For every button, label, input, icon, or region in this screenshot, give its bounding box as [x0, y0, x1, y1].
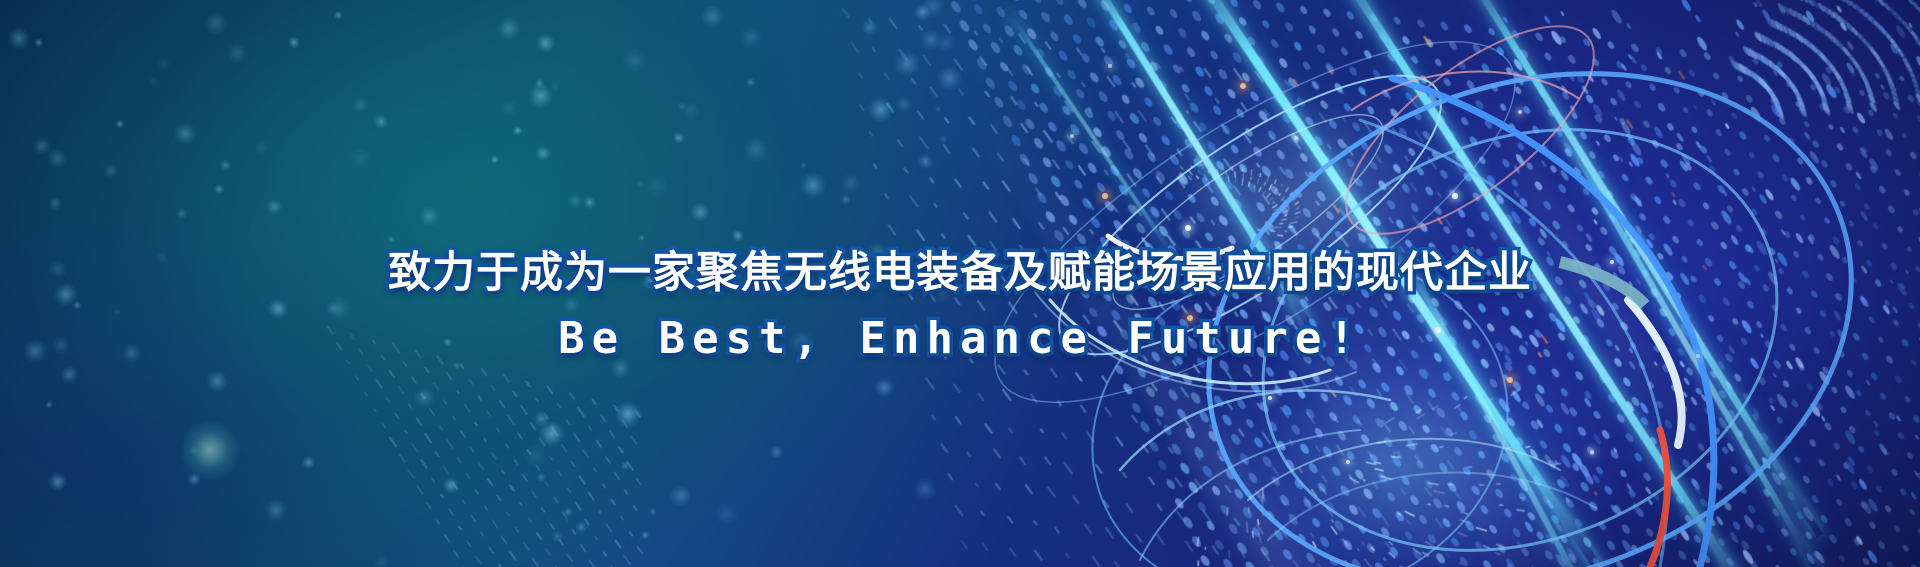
- headline-english: Be Best, Enhance Future!: [0, 313, 1920, 366]
- spark-11-icon: [1294, 136, 1298, 140]
- spark-10-icon: [1108, 64, 1111, 67]
- spark-7-icon: [1518, 110, 1522, 114]
- headline-chinese: 致力于成为一家聚焦无线电装备及赋能场景应用的现代企业: [0, 248, 1920, 299]
- warm-spark-2-icon: [1240, 83, 1246, 89]
- teal-glow-spot: [180, 420, 240, 480]
- hero-banner: 致力于成为一家聚焦无线电装备及赋能场景应用的现代企业 Be Best, Enha…: [0, 0, 1920, 567]
- spark-6-icon: [1070, 134, 1074, 138]
- spark-2-icon: [1452, 193, 1457, 198]
- hero-text-block: 致力于成为一家聚焦无线电装备及赋能场景应用的现代企业 Be Best, Enha…: [0, 248, 1920, 366]
- spark-1-icon: [1185, 225, 1191, 231]
- spark-4-icon: [1268, 396, 1273, 401]
- warm-spark-1-icon: [1102, 193, 1108, 199]
- warm-spark-5-icon: [1507, 377, 1513, 383]
- spark-5-icon: [1346, 460, 1350, 464]
- spark-12-icon: [1590, 450, 1594, 454]
